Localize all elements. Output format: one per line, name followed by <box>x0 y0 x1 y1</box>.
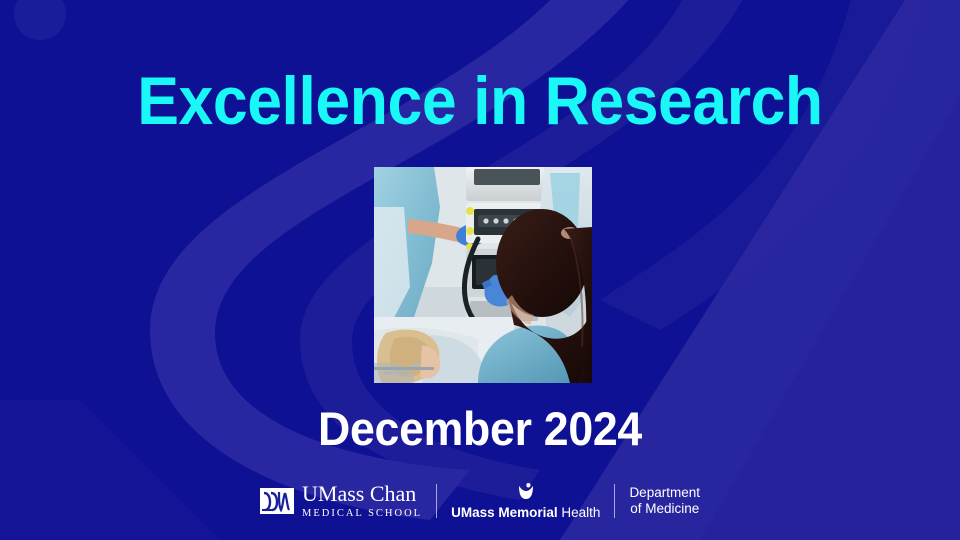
umass-chan-monogram-icon <box>260 486 294 516</box>
logo-umass-memorial-bold: UMass Memorial <box>451 505 558 520</box>
footer-logo-bar: UMass Chan MEDICAL SCHOOL UMass Memorial… <box>0 476 960 526</box>
presentation-slide: Excellence in Research <box>0 0 960 540</box>
logo-divider-2 <box>614 484 615 518</box>
logo-department-of-medicine: Department of Medicine <box>629 478 700 524</box>
logo-umass-memorial-health: UMass Memorial Health <box>451 478 600 524</box>
logo-umass-memorial-regular: Health <box>561 505 600 520</box>
dom-line2: of Medicine <box>630 501 699 517</box>
logo-umass-chan-line1: UMass Chan <box>302 483 416 505</box>
logo-umass-chan-line2: MEDICAL SCHOOL <box>302 507 422 520</box>
logo-divider-1 <box>436 484 437 518</box>
slide-title: Excellence in Research <box>38 62 921 140</box>
logo-umass-memorial-wordmark: UMass Memorial Health <box>451 505 600 520</box>
logo-umass-chan-medical-school: UMass Chan MEDICAL SCHOOL <box>260 478 422 524</box>
dom-line1: Department <box>629 485 700 501</box>
clinical-procedure-photo <box>374 167 592 383</box>
slide-date: December 2024 <box>24 402 936 456</box>
umass-memorial-tulip-icon <box>515 482 537 502</box>
